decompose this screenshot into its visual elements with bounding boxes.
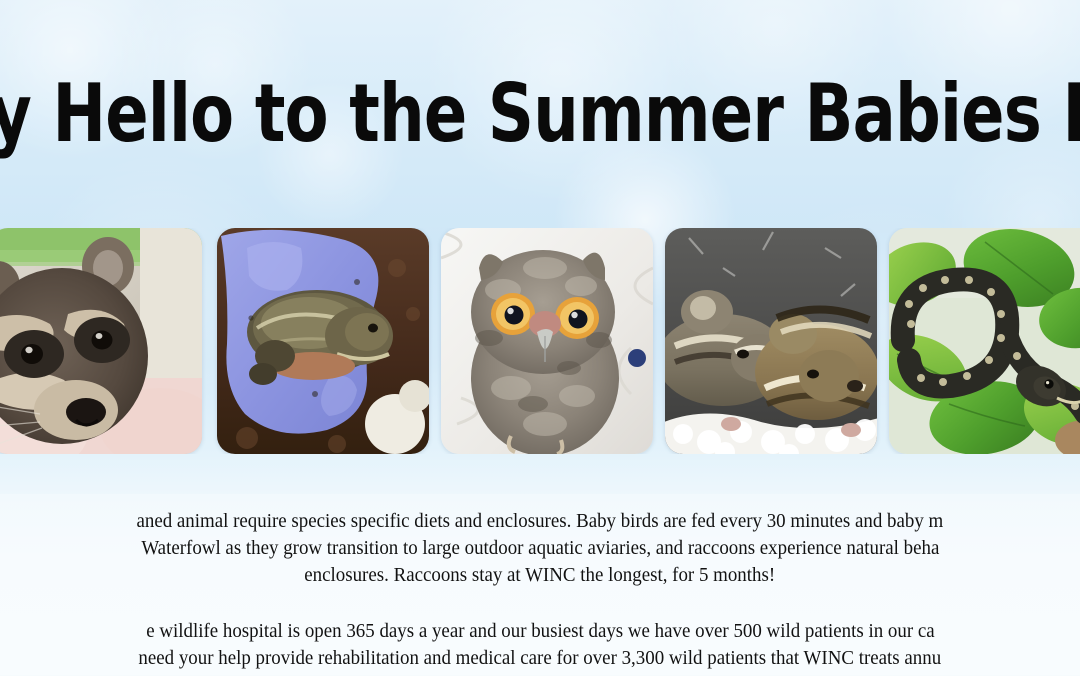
page-title-text: ay Hello to the Summer Babies In <box>0 62 1080 166</box>
photo-card-baby-raccoon[interactable] <box>0 228 202 454</box>
paragraph-line: e wildlife hospital is open 365 days a y… <box>0 618 1080 645</box>
baby-chipmunks-image <box>665 228 877 454</box>
paragraph-care-info: aned animal require species specific die… <box>0 508 1080 600</box>
paragraph-line-text: aned animal require species specific die… <box>137 508 944 535</box>
photo-card-baby-screech-owl[interactable] <box>441 228 653 454</box>
paragraph-line: aned animal require species specific die… <box>0 508 1080 535</box>
paragraph-hospital-info: e wildlife hospital is open 365 days a y… <box>0 618 1080 676</box>
baby-raccoon-image <box>0 228 202 454</box>
baby-turtle-image <box>217 228 429 454</box>
photo-card-baby-chipmunks[interactable] <box>665 228 877 454</box>
paragraph-line-text: e wildlife hospital is open 365 days a y… <box>146 618 934 645</box>
paragraph-line-text: Waterfowl as they grow transition to lar… <box>141 535 939 562</box>
baby-snake-image <box>889 228 1080 454</box>
headline-container: ay Hello to the Summer Babies In <box>0 62 1080 170</box>
paragraph-line-text: need your help provide rehabilitation an… <box>139 645 942 672</box>
page-title: ay Hello to the Summer Babies In <box>0 62 1080 166</box>
paragraph-line: Waterfowl as they grow transition to lar… <box>0 535 1080 562</box>
photo-card-baby-turtle[interactable] <box>217 228 429 454</box>
baby-screech-owl-image <box>441 228 653 454</box>
paragraph-line-text: enclosures. Raccoons stay at WINC the lo… <box>305 562 776 589</box>
photo-card-baby-snake[interactable] <box>889 228 1080 454</box>
paragraph-line: need your help provide rehabilitation an… <box>0 645 1080 672</box>
paragraph-line: enclosures. Raccoons stay at WINC the lo… <box>0 562 1080 589</box>
photo-strip <box>0 228 1080 454</box>
